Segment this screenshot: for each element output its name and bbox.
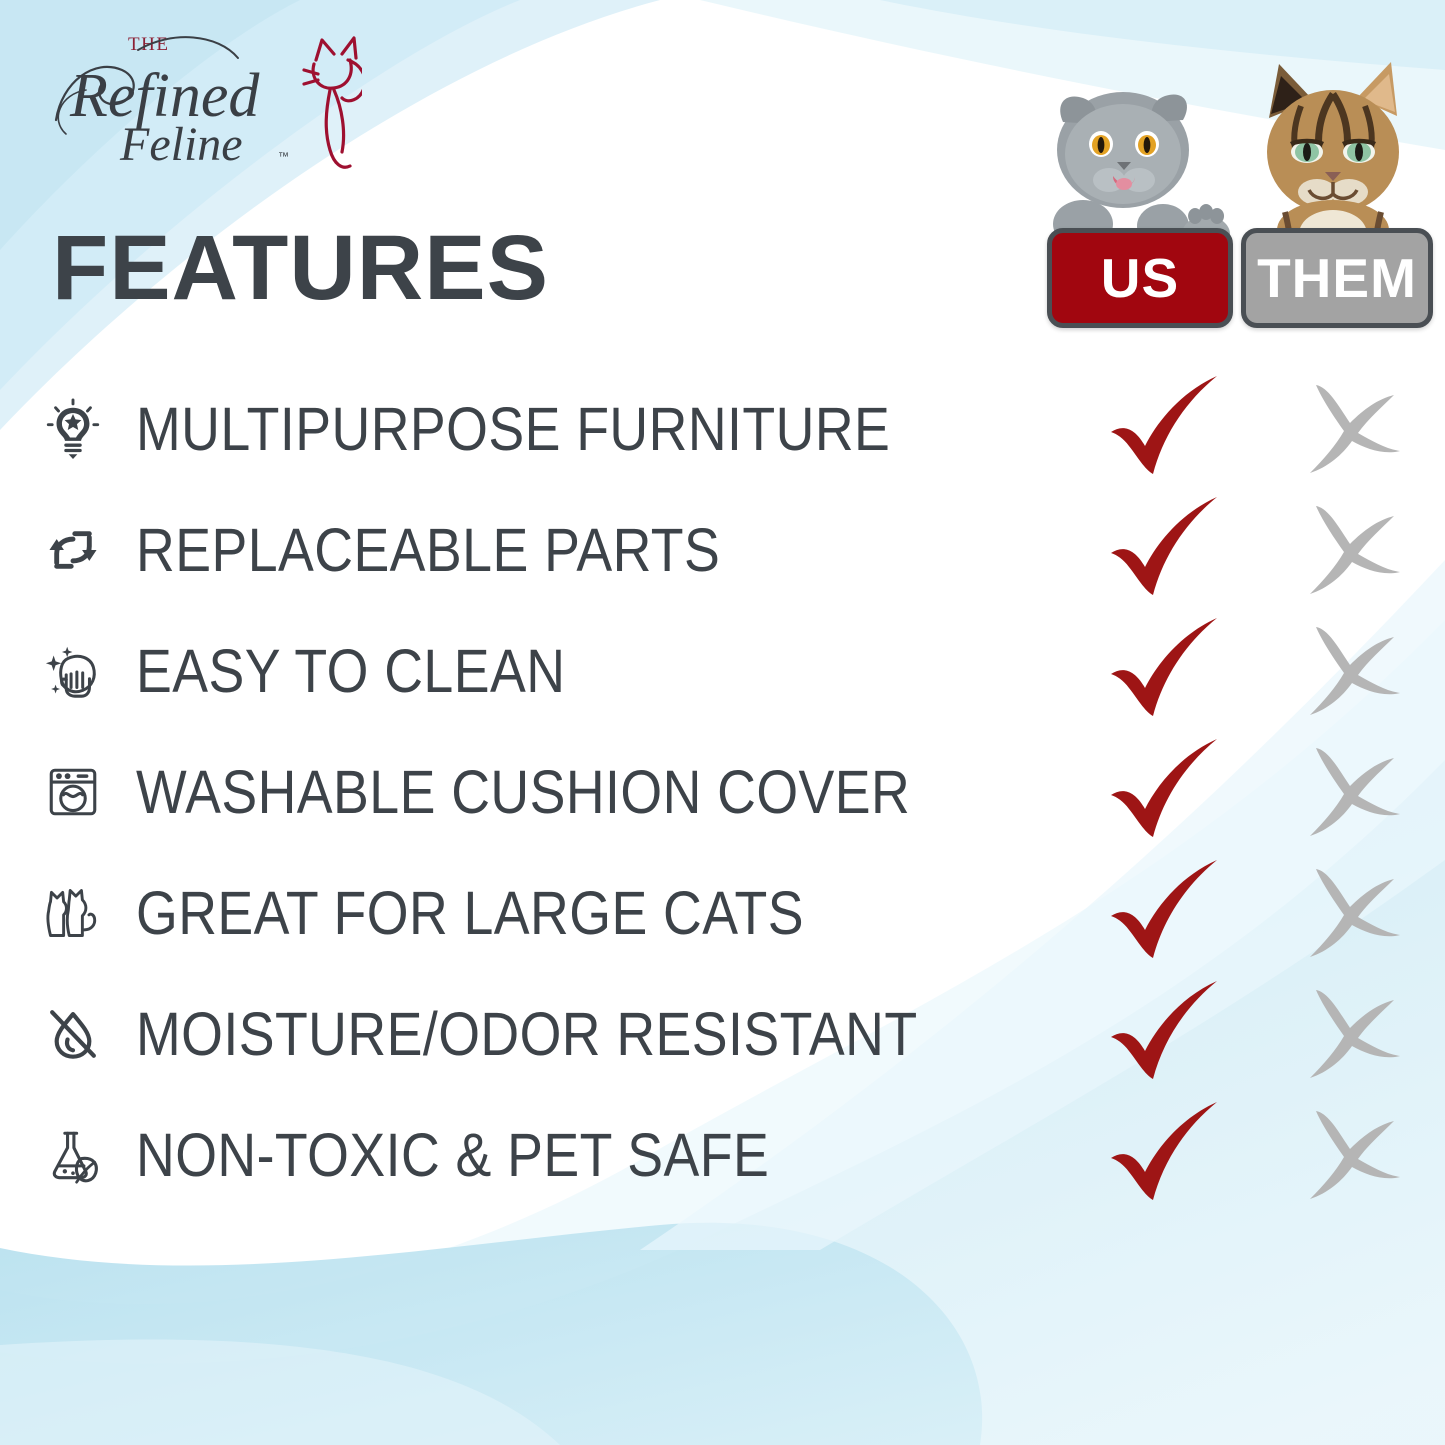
grey-x-mark <box>1298 500 1406 600</box>
feature-label: NON-TOXIC & PET SAFE <box>136 1120 769 1190</box>
flask-leaf-icon <box>30 1112 116 1198</box>
logo-feline-text: Feline <box>119 118 243 171</box>
cleaning-hand-icon <box>30 628 116 714</box>
feature-row: EASY TO CLEAN <box>0 610 1445 731</box>
feature-label: WASHABLE CUSHION COVER <box>136 757 910 827</box>
grey-x-mark <box>1298 863 1406 963</box>
feature-row: MULTIPURPOSE FURNITURE <box>0 368 1445 489</box>
swap-arrows-icon <box>30 507 116 593</box>
red-check-mark <box>1105 979 1225 1089</box>
grey-x-mark <box>1298 379 1406 479</box>
feature-row: MOISTURE/ODOR RESISTANT <box>0 973 1445 1094</box>
feature-label: MULTIPURPOSE FURNITURE <box>136 394 890 464</box>
cat-us-photo <box>1043 58 1231 248</box>
feature-row: NON-TOXIC & PET SAFE <box>0 1094 1445 1215</box>
red-check-mark <box>1105 737 1225 847</box>
logo-svg: THE Refined Feline ™ <box>42 24 362 174</box>
feature-label: MOISTURE/ODOR RESISTANT <box>136 999 918 1069</box>
page-title: FEATURES <box>52 222 549 314</box>
them-button[interactable]: THEM <box>1241 228 1433 328</box>
grey-x-mark <box>1298 1105 1406 1205</box>
us-button[interactable]: US <box>1047 228 1233 328</box>
two-cats-icon <box>30 870 116 956</box>
red-check-mark <box>1105 1100 1225 1210</box>
feature-label: GREAT FOR LARGE CATS <box>136 878 804 948</box>
feature-row: WASHABLE CUSHION COVER <box>0 731 1445 852</box>
cat-them-photo <box>1245 48 1425 253</box>
grey-x-mark <box>1298 621 1406 721</box>
feature-label: EASY TO CLEAN <box>136 636 565 706</box>
the-refined-feline-logo: THE Refined Feline ™ <box>42 24 362 174</box>
no-water-droplet-icon <box>30 991 116 1077</box>
red-check-mark <box>1105 495 1225 605</box>
feature-label: REPLACEABLE PARTS <box>136 515 720 585</box>
logo-trademark: ™ <box>278 151 289 163</box>
lightbulb-star-icon <box>30 386 116 472</box>
grey-x-mark <box>1298 742 1406 842</box>
cat-silhouette-icon <box>304 38 362 167</box>
feature-list: MULTIPURPOSE FURNITURE REPLACEABLE PARTS <box>0 368 1445 1215</box>
compare-header: US THEM <box>1041 58 1437 338</box>
feature-row: REPLACEABLE PARTS <box>0 489 1445 610</box>
red-check-mark <box>1105 616 1225 726</box>
washing-machine-icon <box>30 749 116 835</box>
red-check-mark <box>1105 858 1225 968</box>
feature-row: GREAT FOR LARGE CATS <box>0 852 1445 973</box>
red-check-mark <box>1105 374 1225 484</box>
grey-x-mark <box>1298 984 1406 1084</box>
